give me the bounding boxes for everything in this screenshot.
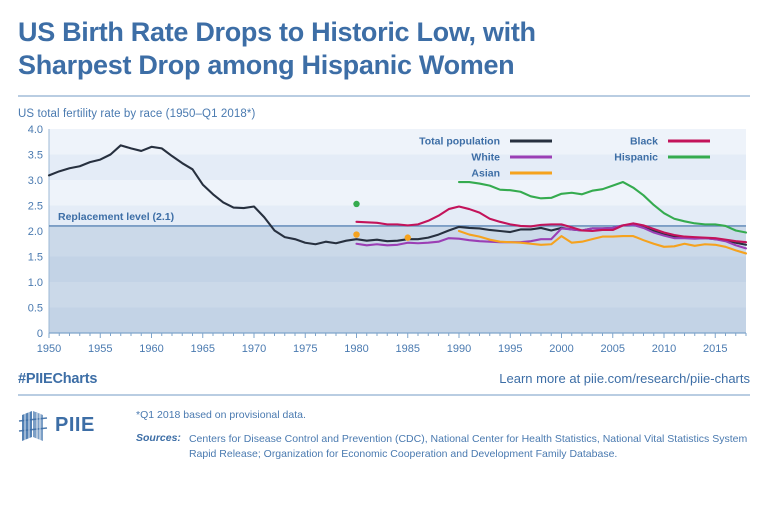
y-axis-tick-label: 0.5 <box>28 302 43 314</box>
y-axis-tick-label: 2.5 <box>28 200 43 212</box>
x-axis-tick-label: 2015 <box>703 343 727 355</box>
chart-footer: #PIIECharts Learn more at piie.com/resea… <box>18 371 750 462</box>
y-axis-tick-label: 1.5 <box>28 251 43 263</box>
legend-label: Hispanic <box>614 151 658 163</box>
x-axis-tick-label: 2005 <box>601 343 625 355</box>
piie-building-icon <box>18 409 48 443</box>
x-axis-tick-label: 2010 <box>652 343 676 355</box>
legend-label: Total population <box>419 135 500 147</box>
x-axis-tick-label: 1960 <box>139 343 163 355</box>
y-axis-tick-label: 2.0 <box>28 226 43 238</box>
piie-logo: PIIE <box>18 407 122 462</box>
y-axis-tick-label: 3.5 <box>28 149 43 161</box>
x-axis-tick-label: 1990 <box>447 343 471 355</box>
legend-label: Asian <box>471 167 500 179</box>
x-axis-tick-label: 2000 <box>549 343 573 355</box>
legend-label: Black <box>630 135 658 147</box>
piie-wordmark: PIIE <box>55 414 95 437</box>
x-axis-tick-label: 1995 <box>498 343 522 355</box>
replacement-level-label: Replacement level (2.1) <box>58 211 174 223</box>
learn-more-link[interactable]: Learn more at piie.com/research/piie-cha… <box>499 371 750 386</box>
y-axis-tick-label: 3.0 <box>28 175 43 187</box>
grid-band <box>49 256 746 282</box>
provisional-data-note: *Q1 2018 based on provisional data. <box>136 409 750 421</box>
sources-label: Sources: <box>136 432 181 462</box>
page-title: US Birth Rate Drops to Historic Low, wit… <box>18 0 750 82</box>
chart-page: US Birth Rate Drops to Historic Low, wit… <box>0 0 768 521</box>
x-axis-tick-label: 1955 <box>88 343 112 355</box>
sources-text: Centers for Disease Control and Preventi… <box>189 432 750 462</box>
data-point-asian <box>405 234 411 240</box>
y-axis-tick-label: 0 <box>37 328 43 340</box>
x-axis-tick-label: 1985 <box>396 343 420 355</box>
chart-subtitle: US total fertility rate by race (1950–Q1… <box>18 108 750 120</box>
grid-band <box>49 282 746 308</box>
x-axis-tick-label: 1980 <box>344 343 368 355</box>
y-axis-tick-label: 4.0 <box>28 125 43 136</box>
title-divider <box>18 95 750 97</box>
chart-area: 00.51.01.52.02.53.03.54.0195019551960196… <box>18 125 750 361</box>
fertility-rate-line-chart: 00.51.01.52.02.53.03.54.0195019551960196… <box>18 125 750 357</box>
data-point-asian <box>353 231 359 237</box>
x-axis-tick-label: 1970 <box>242 343 266 355</box>
y-axis-tick-label: 1.0 <box>28 277 43 289</box>
hashtag-label: #PIIECharts <box>18 371 97 387</box>
grid-band <box>49 307 746 333</box>
sources-block: PIIE *Q1 2018 based on provisional data.… <box>18 407 750 462</box>
footer-divider <box>18 394 750 396</box>
notes-column: *Q1 2018 based on provisional data. Sour… <box>136 407 750 462</box>
x-axis-tick-label: 1950 <box>37 343 61 355</box>
x-axis-tick-label: 1975 <box>293 343 317 355</box>
data-point-hispanic <box>353 201 359 207</box>
legend-label: White <box>471 151 500 163</box>
x-axis-tick-label: 1965 <box>191 343 215 355</box>
